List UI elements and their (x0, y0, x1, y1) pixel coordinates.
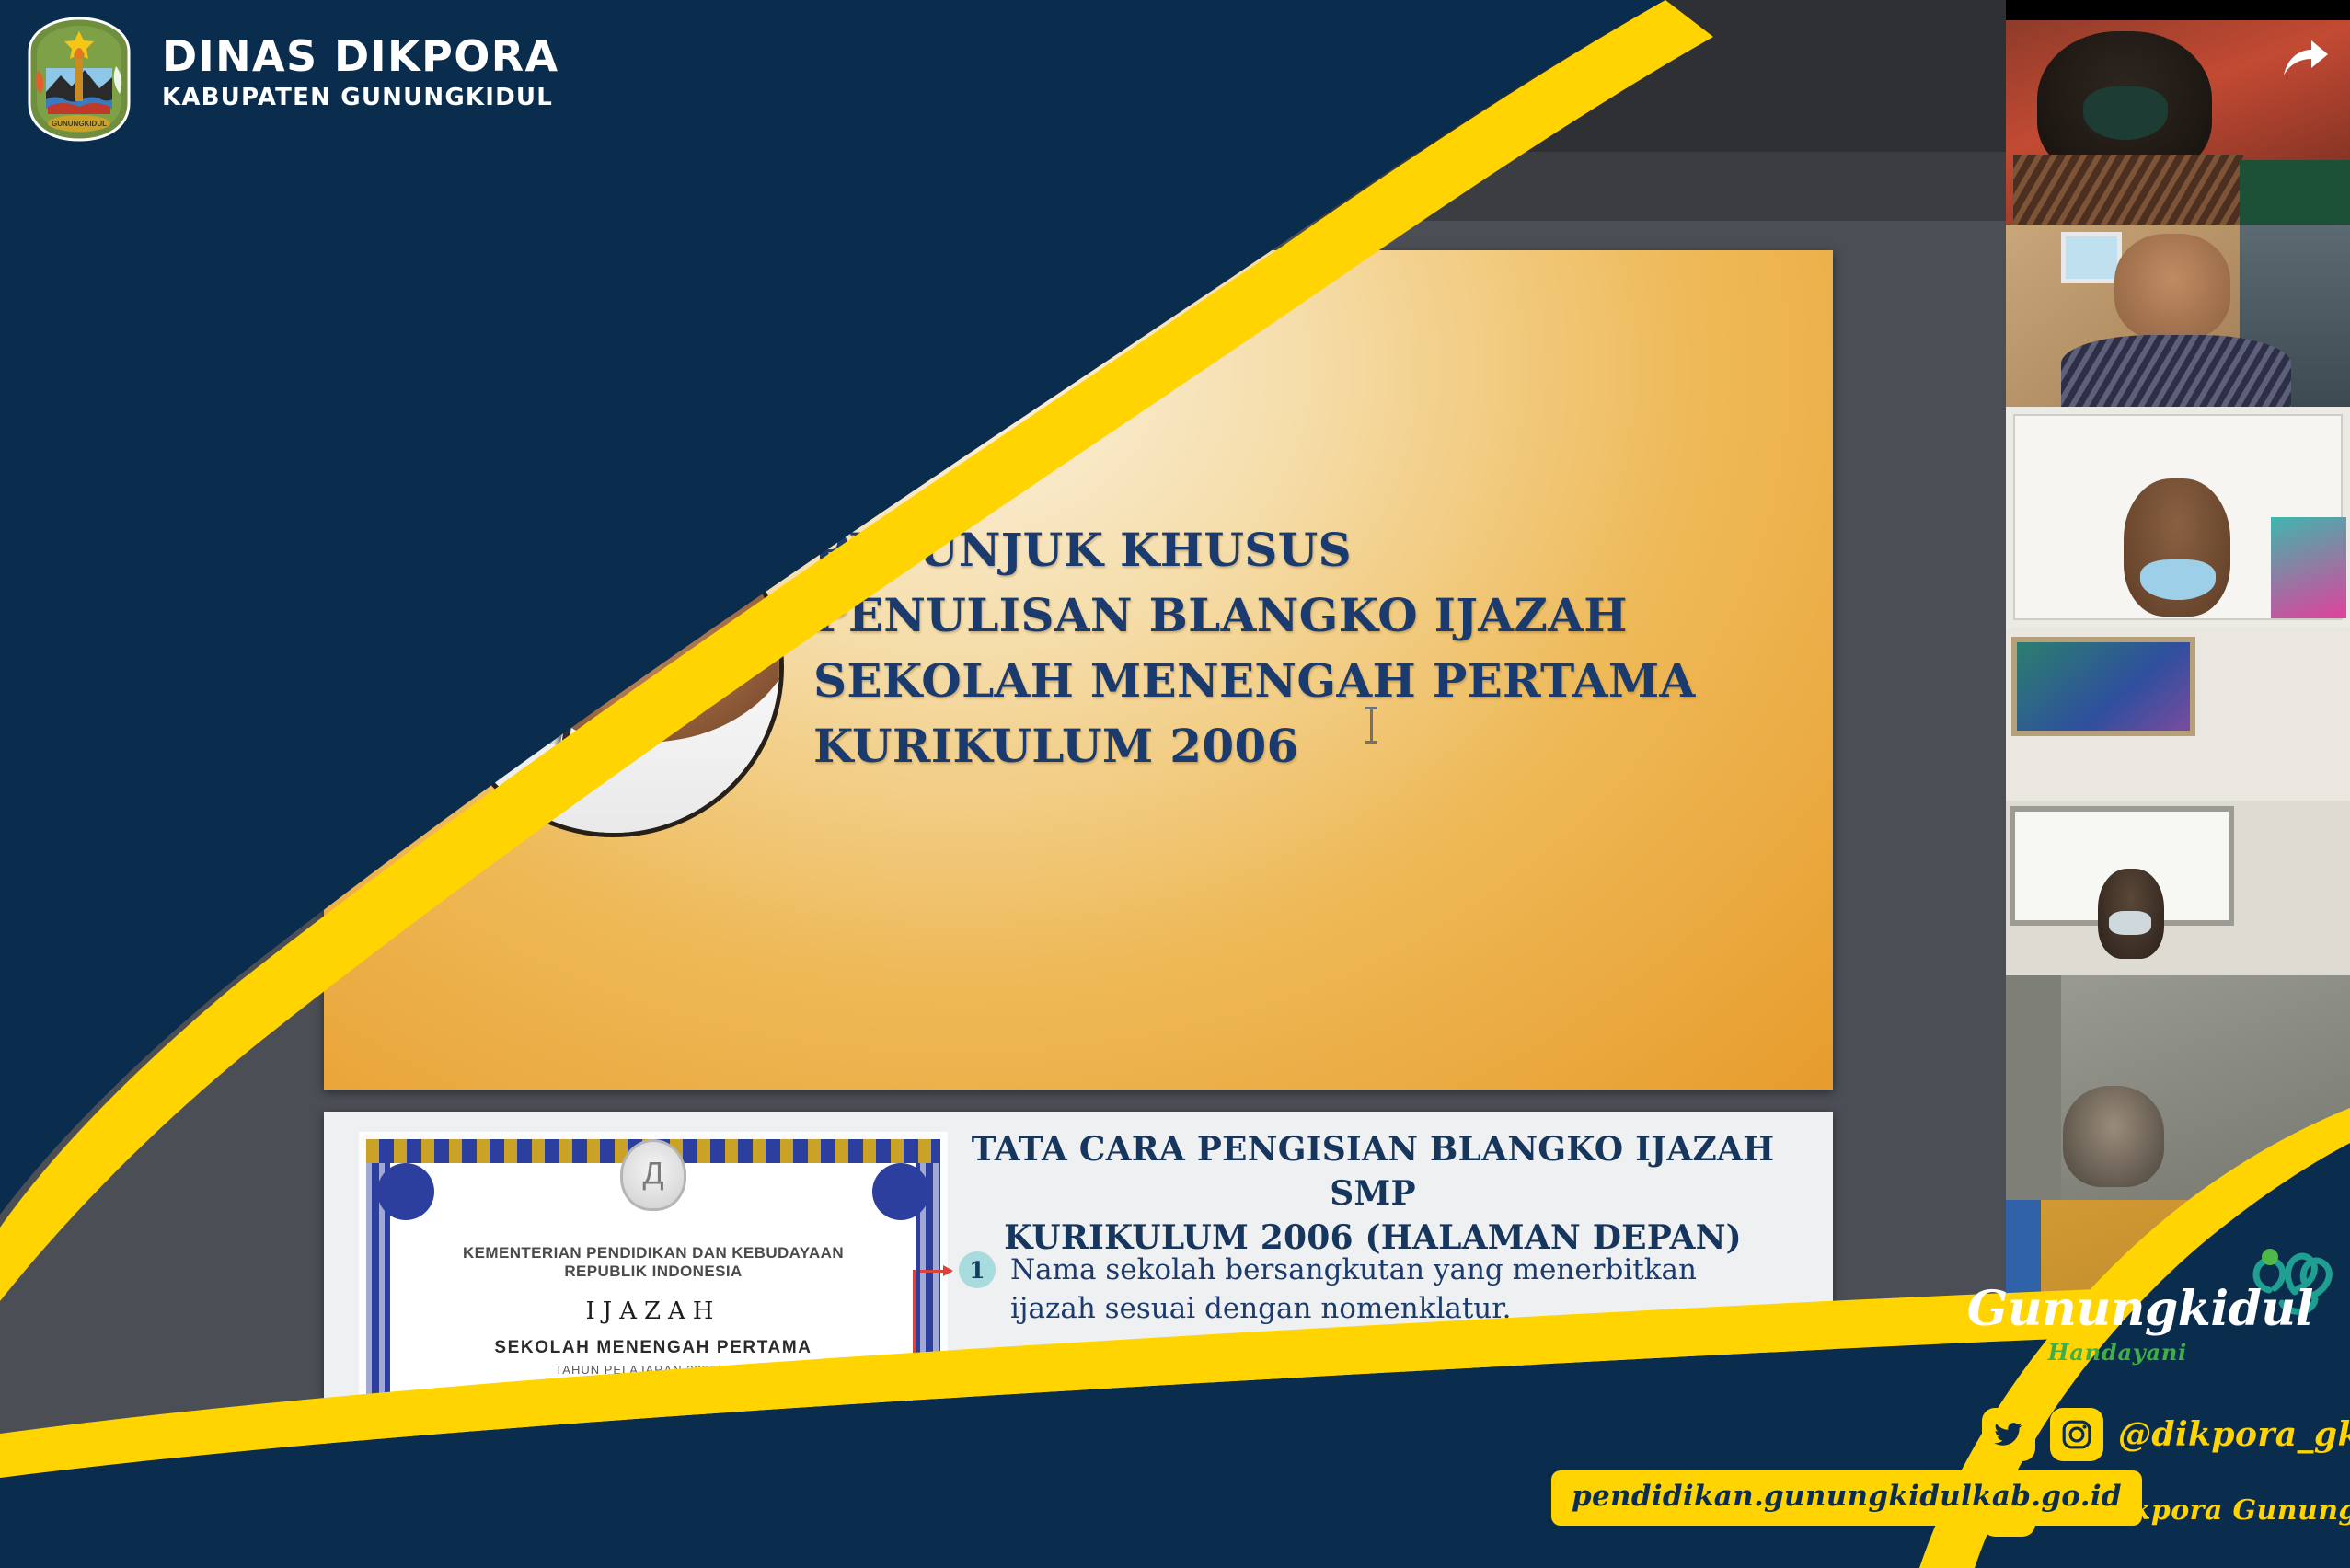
hand-writing-with-pen-photo (444, 497, 784, 837)
participant-tile-6[interactable] (2006, 975, 2350, 1200)
list-item-number: 3 (959, 1423, 996, 1459)
list-item-number: 1 (959, 1251, 996, 1288)
ministry-line-1: KEMENTERIAN PENDIDIKAN DAN KEBUDAYAAN (478, 282, 1112, 312)
participant-tile-4[interactable] (2006, 628, 2350, 801)
rotate-icon[interactable] (1018, 168, 1054, 205)
text-cursor (1370, 707, 1373, 744)
tut-wuri-handayani-logo-icon (353, 272, 462, 386)
fit-page-icon[interactable] (964, 168, 1001, 205)
current-page-input[interactable]: 12 (607, 170, 651, 203)
instagram-handle: @dikpora_gk (2118, 1415, 2350, 1454)
participant-tile-5[interactable] (2006, 801, 2350, 975)
screen-share-region: 12 / 55 − 100% + (0, 0, 2006, 1568)
list-item: 1 Nama sekolah bersangkutan yang menerbi… (959, 1251, 1787, 1329)
toolbar-divider-1 (729, 173, 731, 201)
list-item-text: Nomor Pokok Sekolah Nasional (NPSN) (1010, 1356, 1587, 1395)
page-subtitle: KABUPATEN GUNUNGKIDUL (162, 84, 559, 111)
list-item-number: 2 (959, 1356, 996, 1393)
cert-marker-2: 2 (609, 1494, 640, 1526)
slide-12-title-line-4: KURIKULUM 2006 (813, 713, 1789, 778)
toolbar-divider-2 (946, 173, 948, 201)
rail-top-bar (2006, 0, 2350, 20)
cert-ministry-line-2: REPUBLIK INDONESIA (359, 1262, 948, 1281)
ijazah-certificate-image: KEMENTERIAN PENDIDIKAN DAN KEBUDAYAAN RE… (359, 1132, 948, 1568)
page-separator: / (667, 175, 673, 199)
cert-doc-title: IJAZAH (359, 1297, 948, 1325)
zoom-out-button[interactable]: − (747, 168, 784, 205)
slide-12-title-line-2: PENULISAN BLANGKO IJAZAH (813, 582, 1789, 648)
gunungkidul-regency-crest-icon: GUNUNGKIDUL (20, 15, 138, 144)
header-brand: GUNUNGKIDUL DINAS DIKPORA KABUPATEN GUNU… (0, 0, 1058, 166)
ministry-website: ditsmp.kemdikbud.go.id (478, 347, 1112, 375)
participant-tile-3[interactable] (2006, 407, 2350, 628)
share-arrow-icon[interactable] (2282, 39, 2330, 79)
gunungkidul-logo-word: Gunungkidul (1967, 1281, 2313, 1337)
svg-text:GUNUNGKIDUL: GUNUNGKIDUL (52, 120, 107, 128)
ministry-line-2: DIREKTORAT SEKOLAH MENENGAH PERTAMA (478, 312, 1112, 342)
instagram-icon[interactable] (2050, 1408, 2103, 1461)
participant-tile-2[interactable] (2006, 225, 2350, 407)
header-brand-text: DINAS DIKPORA KABUPATEN GUNUNGKIDUL (162, 35, 559, 111)
garuda-emblem-icon (620, 1139, 686, 1211)
twitter-icon[interactable] (1982, 1408, 2035, 1461)
page-title: DINAS DIKPORA (162, 35, 559, 78)
slide-12-title-line-3: SEKOLAH MENENGAH PERTAMA (813, 648, 1789, 713)
slide-12-title-line-1: PETUNJUK KHUSUS (813, 517, 1789, 582)
website-badge-text: pendidikan.gunungkidulkab.go.id (1572, 1480, 2122, 1513)
total-pages-label: 55 (690, 175, 712, 199)
cert-marker-3: 3 (526, 1537, 558, 1568)
slide-12-title: PETUNJUK KHUSUS PENULISAN BLANGKO IJAZAH… (813, 517, 1789, 778)
cert-field-1-line (427, 1470, 898, 1471)
zoom-in-button[interactable]: + (893, 168, 929, 205)
social-row-1: @dikpora_gk (1982, 1408, 2350, 1461)
website-badge[interactable]: pendidikan.gunungkidulkab.go.id (1551, 1470, 2142, 1526)
zoom-level-input[interactable]: 100% (801, 170, 876, 203)
cert-year: TAHUN PELAJARAN 2020/2021 (359, 1363, 948, 1377)
slide-13-title: TATA CARA PENGISIAN BLANGKO IJAZAH SMP K… (959, 1128, 1787, 1261)
gunungkidul-logo: Gunungkidul Handayani (1967, 1281, 2313, 1366)
slide-13-title-line-1: TATA CARA PENGISIAN BLANGKO IJAZAH SMP (959, 1128, 1787, 1216)
gunungkidul-logo-tagline: Handayani (1967, 1339, 2313, 1366)
slide-12-ministry-header: KEMENTERIAN PENDIDIKAN DAN KEBUDAYAAN DI… (478, 282, 1112, 375)
list-item: 2 Nomor Pokok Sekolah Nasional (NPSN) (959, 1356, 1787, 1395)
screenshot-root: 12 / 55 − 100% + (0, 0, 2350, 1568)
list-item-text: Nama sekolah bersangkutan yang menerbitk… (1010, 1251, 1787, 1329)
cert-marker-1: 1 (662, 1419, 694, 1450)
cert-level: SEKOLAH MENENGAH PERTAMA (359, 1338, 948, 1358)
pdf-page-12[interactable]: KEMENTERIAN PENDIDIKAN DAN KEBUDAYAAN DI… (324, 250, 1833, 1090)
cert-ministry-line-1: KEMENTERIAN PENDIDIKAN DAN KEBUDAYAAN (359, 1244, 948, 1262)
